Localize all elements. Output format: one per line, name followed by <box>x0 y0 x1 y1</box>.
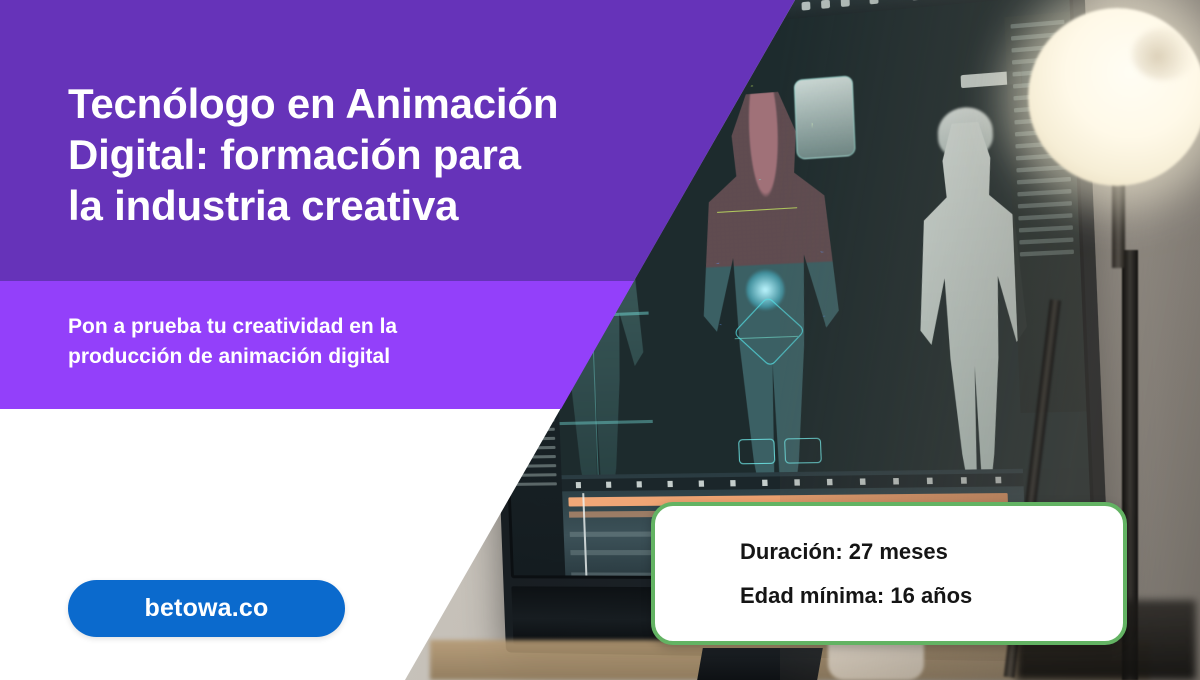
rig-left-foot-control <box>738 439 775 465</box>
promo-banner: Tecnólogo en Animación Digital: formació… <box>0 0 1200 680</box>
page-subtitle-line-2: producción de animación digital <box>68 342 568 372</box>
page-subtitle-line-1: Pon a prueba tu creatividad en la <box>68 312 568 342</box>
page-title-line-1: Tecnólogo en Animación <box>68 78 668 129</box>
course-info-card: Duración: 27 meses Edad mínima: 16 años <box>651 502 1127 645</box>
page-subtitle: Pon a prueba tu creatividad en la produc… <box>68 312 568 373</box>
info-row-duration: Duración: 27 meses <box>655 530 1123 574</box>
lamp-neck <box>1112 172 1125 268</box>
website-url-button[interactable]: betowa.co <box>68 580 345 637</box>
lamp-globe-highlight <box>1132 28 1196 80</box>
page-title-line-3: la industria creativa <box>68 180 668 231</box>
website-url-label: betowa.co <box>144 594 268 623</box>
page-title: Tecnólogo en Animación Digital: formació… <box>68 78 668 232</box>
page-title-line-2: Digital: formación para <box>68 129 668 180</box>
info-row-minimum-age: Edad mínima: 16 años <box>655 574 1123 618</box>
